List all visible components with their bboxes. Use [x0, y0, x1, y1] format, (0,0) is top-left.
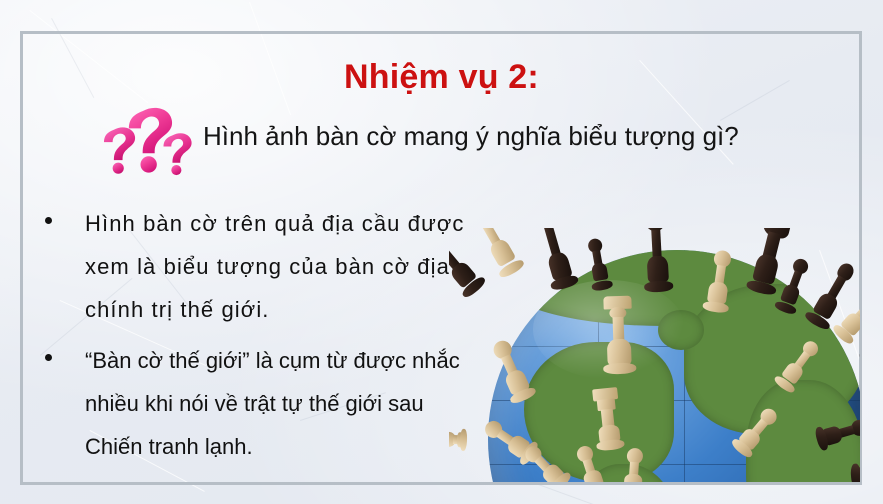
chess-piece-pawn-dark [850, 456, 860, 482]
list-item: Hình bàn cờ trên quả địa cầu được xem là… [38, 202, 468, 331]
question-text: Hình ảnh bàn cờ mang ý nghĩa biểu tượng … [203, 121, 739, 152]
list-item-label: Hình bàn cờ trên quả địa cầu được xem là… [85, 202, 468, 331]
chess-piece-pawn-light [449, 417, 468, 462]
list-item: “Bàn cờ thế giới” là cụm từ được nhắc nh… [38, 339, 468, 468]
three-question-marks-icon [95, 104, 199, 176]
chess-piece-king-dark [636, 228, 678, 293]
bullet-dot-icon [45, 354, 52, 361]
chess-piece-queen-light [595, 295, 642, 374]
question-row: Hình ảnh bàn cờ mang ý nghĩa biểu tượng … [95, 104, 835, 176]
bullet-list: Hình bàn cờ trên quả địa cầu được xem là… [38, 202, 468, 476]
page-title: Nhiệm vụ 2: [0, 58, 883, 97]
list-item-label: “Bàn cờ thế giới” là cụm từ được nhắc nh… [85, 339, 468, 468]
slide-canvas: Nhiệm vụ 2: [0, 0, 883, 504]
bullet-dot-icon [45, 217, 52, 224]
globe-with-chess-pieces-image [449, 228, 860, 482]
chess-piece-pawn-light [615, 447, 652, 482]
